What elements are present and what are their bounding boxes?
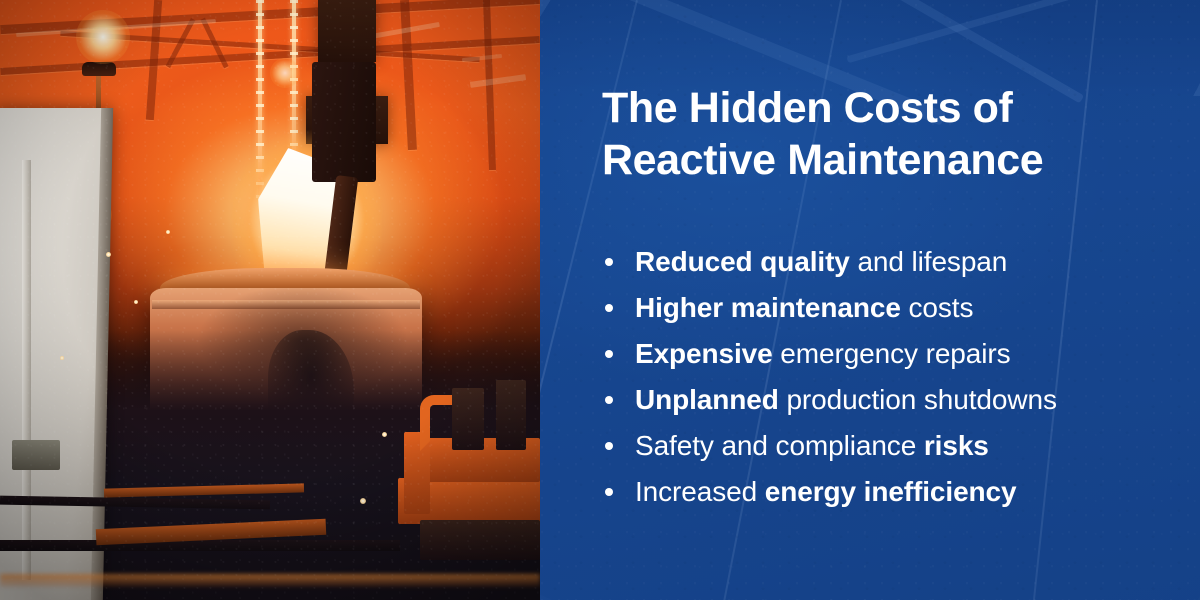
- crane-trolley: [318, 0, 376, 62]
- list-item: Expensive emergency repairs: [602, 331, 1200, 377]
- list-item: Higher maintenance costs: [602, 285, 1200, 331]
- spark: [106, 252, 111, 257]
- page-title: The Hidden Costs of Reactive Maintenance: [602, 82, 1200, 186]
- crane-hook-block: [312, 62, 376, 182]
- spark: [382, 432, 387, 437]
- hot-rail-glow: [0, 574, 540, 587]
- spark: [360, 498, 366, 504]
- wheel-assembly: [420, 520, 540, 560]
- ladle-band: [152, 300, 420, 309]
- machinery-shadow: [496, 380, 526, 450]
- spark: [60, 356, 64, 360]
- list-item-text: Safety and compliance risks: [635, 430, 989, 461]
- list-item: Safety and compliance risks: [602, 423, 1200, 469]
- list-item: Reduced quality and lifespan: [602, 239, 1200, 285]
- list-item: Unplanned production shutdowns: [602, 377, 1200, 423]
- steel-mill-photo: [0, 0, 540, 600]
- content-panel: The Hidden Costs of Reactive Maintenance…: [540, 0, 1200, 600]
- bullet-dot-icon: [605, 304, 613, 312]
- spark: [166, 230, 170, 234]
- list-item: Increased energy inefficiency: [602, 469, 1200, 515]
- lens-flare: [270, 58, 300, 88]
- spark: [134, 300, 138, 304]
- bullet-dot-icon: [605, 488, 613, 496]
- banner: The Hidden Costs of Reactive Maintenance…: [0, 0, 1200, 600]
- junction-box: [12, 440, 60, 470]
- bullet-dot-icon: [605, 350, 613, 358]
- list-item-text: Reduced quality and lifespan: [635, 246, 1007, 277]
- list-item-text: Expensive emergency repairs: [635, 338, 1010, 369]
- floor-rail: [0, 540, 400, 551]
- wall-conduit: [22, 160, 31, 580]
- bullet-dot-icon: [605, 396, 613, 404]
- list-item-text: Higher maintenance costs: [635, 292, 973, 323]
- machinery-shadow: [452, 388, 484, 450]
- cost-list: Reduced quality and lifespan Higher main…: [602, 239, 1200, 515]
- list-item-text: Increased energy inefficiency: [635, 476, 1017, 507]
- lens-flare: [76, 10, 130, 64]
- bullet-dot-icon: [605, 442, 613, 450]
- lamp-head: [82, 62, 116, 76]
- panel-content: The Hidden Costs of Reactive Maintenance…: [540, 0, 1200, 515]
- bullet-dot-icon: [605, 258, 613, 266]
- list-item-text: Unplanned production shutdowns: [635, 384, 1057, 415]
